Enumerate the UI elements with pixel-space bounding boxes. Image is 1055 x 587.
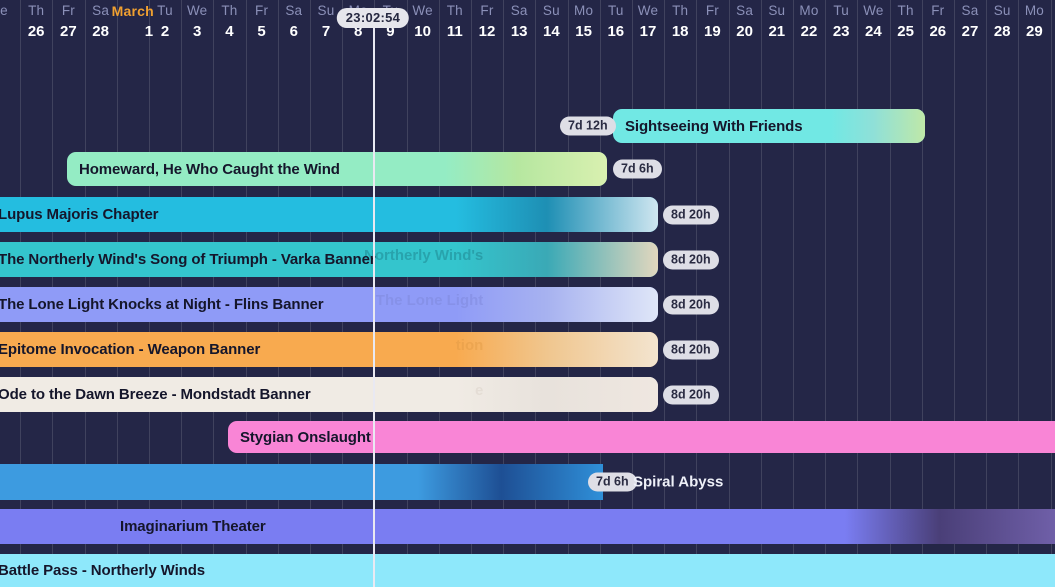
timeline-app: eTh26Fr27Sa28March1Tu2We3Th4Fr5Sa6Su7Mo8… — [0, 0, 1055, 587]
header-day-column[interactable]: Mo22 — [793, 0, 825, 42]
day-number-label: 7 — [310, 22, 342, 42]
event-label: Imaginarium Theater — [120, 518, 266, 535]
timeline-row: Stygian Onslaught — [0, 421, 1055, 453]
header-day-column[interactable]: Su28 — [986, 0, 1018, 42]
header-day-column[interactable]: Fr19 — [696, 0, 728, 42]
time-remaining-pill: 8d 20h — [663, 295, 719, 314]
day-of-week-label: Tu — [1051, 0, 1055, 22]
event-artwork — [456, 287, 658, 322]
event-artwork — [845, 509, 1055, 544]
header-day-column[interactable]: Tu23 — [825, 0, 857, 42]
header-day-column[interactable]: e — [0, 0, 20, 22]
day-number-label: 23 — [825, 22, 857, 42]
header-day-column[interactable]: Tu16 — [600, 0, 632, 42]
event-bar[interactable]: Imaginarium Theater — [0, 509, 1055, 544]
timeline-row: Imaginarium Theater — [0, 509, 1055, 544]
event-artwork-caption: e — [475, 383, 483, 399]
current-time-line — [373, 24, 375, 587]
day-of-week-label: Tu — [825, 0, 857, 22]
event-label: The Lone Light Knocks at Night - Flins B… — [0, 296, 324, 313]
timeline-row: Homeward, He Who Caught the Wind — [0, 152, 1055, 186]
header-day-column[interactable]: Fr12 — [471, 0, 503, 42]
day-number-label: 24 — [857, 22, 889, 42]
day-of-week-label: Mo — [568, 0, 600, 22]
day-of-week-label: Tu — [149, 0, 181, 22]
timeline-row: Battle Pass - Northerly Winds — [0, 554, 1055, 587]
timeline-row: eOde to the Dawn Breeze - Mondstadt Bann… — [0, 377, 1055, 412]
header-day-column[interactable]: Th18 — [664, 0, 696, 42]
header-day-column[interactable]: Su14 — [535, 0, 567, 42]
day-of-week-label: Fr — [471, 0, 503, 22]
day-number-label: 10 — [407, 22, 439, 42]
event-label: Lupus Majoris Chapter — [0, 206, 158, 223]
time-remaining-pill: 7d 12h — [560, 117, 616, 136]
event-label: Epitome Invocation - Weapon Banner — [0, 341, 260, 358]
event-label: Homeward, He Who Caught the Wind — [79, 161, 340, 178]
header-day-column[interactable]: Mo29 — [1018, 0, 1050, 42]
day-of-week-label: Th — [890, 0, 922, 22]
event-bar[interactable]: Northerly Wind'sThe Northerly Wind's Son… — [0, 242, 658, 277]
header-day-column[interactable]: We17 — [632, 0, 664, 42]
day-of-week-label: Fr — [52, 0, 84, 22]
header-day-column[interactable]: Su21 — [761, 0, 793, 42]
event-artwork — [445, 152, 607, 186]
day-of-week-label: Th — [439, 0, 471, 22]
event-bar[interactable]: tionEpitome Invocation - Weapon Banner — [0, 332, 658, 367]
event-label: Stygian Onslaught — [240, 429, 371, 446]
time-remaining-pill: 8d 20h — [663, 385, 719, 404]
day-number-label: 21 — [761, 22, 793, 42]
day-number-label: 30 — [1051, 22, 1055, 42]
day-of-week-label: Th — [213, 0, 245, 22]
day-number-label: 19 — [696, 22, 728, 42]
day-number-label: 14 — [535, 22, 567, 42]
day-of-week-label: We — [181, 0, 213, 22]
event-bar[interactable]: Stygian Onslaught — [228, 421, 1055, 453]
day-of-week-label: Mo — [1018, 0, 1050, 22]
day-number-label: 11 — [439, 22, 471, 42]
event-bar[interactable]: The Lone LightThe Lone Light Knocks at N… — [0, 287, 658, 322]
time-remaining-pill: 7d 6h — [613, 160, 662, 179]
header-day-column[interactable]: Sa20 — [729, 0, 761, 42]
event-artwork — [456, 242, 658, 277]
header-day-column[interactable]: Tu30 — [1051, 0, 1055, 42]
day-number-label: 22 — [793, 22, 825, 42]
day-of-week-label: e — [0, 0, 20, 22]
day-number-label: 12 — [471, 22, 503, 42]
day-of-week-label: We — [857, 0, 889, 22]
time-remaining-pill: 7d 6h — [588, 473, 637, 492]
day-number-label: 16 — [600, 22, 632, 42]
header-day-column[interactable]: We10 — [407, 0, 439, 42]
event-artwork — [456, 377, 658, 412]
day-number-label: 3 — [181, 22, 213, 42]
day-of-week-label: Th — [664, 0, 696, 22]
day-of-week-label: We — [632, 0, 664, 22]
day-number-label: 17 — [632, 22, 664, 42]
header-day-column[interactable]: Fr5 — [246, 0, 278, 42]
day-of-week-label: Su — [535, 0, 567, 22]
header-day-column[interactable]: Th11 — [439, 0, 471, 42]
header-day-column[interactable]: Fr27 — [52, 0, 84, 42]
event-bar[interactable] — [0, 464, 603, 500]
event-label: Ode to the Dawn Breeze - Mondstadt Banne… — [0, 386, 311, 403]
event-artwork — [418, 464, 603, 500]
timeline-row: The Lone LightThe Lone Light Knocks at N… — [0, 287, 1055, 322]
day-of-week-label: We — [407, 0, 439, 22]
timeline-row: Northerly Wind'sThe Northerly Wind's Son… — [0, 242, 1055, 277]
day-of-week-label: Sa — [278, 0, 310, 22]
event-bar[interactable]: Lupus Majoris Chapter — [0, 197, 658, 232]
event-artwork-caption: The Lone Light — [376, 293, 483, 309]
day-number-label: 27 — [52, 22, 84, 42]
timeline-header: eTh26Fr27Sa28March1Tu2We3Th4Fr5Sa6Su7Mo8… — [0, 0, 1055, 56]
event-bar[interactable]: Sightseeing With Friends — [613, 109, 925, 143]
header-day-column[interactable]: Fr26 — [922, 0, 954, 42]
header-day-column[interactable]: We3 — [181, 0, 213, 42]
day-of-week-label: Fr — [922, 0, 954, 22]
timeline-row — [0, 464, 1055, 500]
day-number-label: 29 — [1018, 22, 1050, 42]
day-number-label: 26 — [20, 22, 52, 42]
header-day-column[interactable]: Mo15 — [568, 0, 600, 42]
event-artwork-caption: Northerly Wind's — [364, 248, 483, 264]
event-artwork — [456, 332, 658, 367]
current-time-pill: 23:02:54 — [337, 8, 409, 28]
header-day-column[interactable]: Th25 — [890, 0, 922, 42]
event-artwork — [456, 197, 658, 232]
day-of-week-label: Th — [20, 0, 52, 22]
day-number-label: 26 — [922, 22, 954, 42]
day-of-week-label: Fr — [246, 0, 278, 22]
header-day-column[interactable]: Th4 — [213, 0, 245, 42]
day-of-week-label: Sa — [954, 0, 986, 22]
event-bar[interactable]: Homeward, He Who Caught the Wind — [67, 152, 607, 186]
day-number-label: 5 — [246, 22, 278, 42]
event-label: The Northerly Wind's Song of Triumph - V… — [0, 251, 376, 268]
header-day-column[interactable]: Tu2 — [149, 0, 181, 42]
day-of-week-label: Su — [986, 0, 1018, 22]
day-number-label: 2 — [149, 22, 181, 42]
day-number-label: 13 — [503, 22, 535, 42]
day-of-week-label: Mo — [793, 0, 825, 22]
header-day-column[interactable]: We24 — [857, 0, 889, 42]
event-label: Spiral Abyss — [633, 474, 723, 491]
day-number-label: 27 — [954, 22, 986, 42]
day-number-label: 20 — [729, 22, 761, 42]
timeline-row: Sightseeing With Friends — [0, 109, 1055, 143]
day-number-label: 28 — [986, 22, 1018, 42]
time-remaining-pill: 8d 20h — [663, 205, 719, 224]
day-of-week-label: Sa — [729, 0, 761, 22]
event-artwork-caption: tion — [456, 338, 484, 354]
event-artwork — [831, 109, 925, 143]
day-number-label: 18 — [664, 22, 696, 42]
header-day-column[interactable]: Th26 — [20, 0, 52, 42]
day-of-week-label: Tu — [600, 0, 632, 22]
day-of-week-label: Fr — [696, 0, 728, 22]
day-of-week-label: Sa — [503, 0, 535, 22]
day-number-label: 4 — [213, 22, 245, 42]
event-label: Sightseeing With Friends — [625, 118, 802, 135]
day-number-label: 15 — [568, 22, 600, 42]
time-remaining-pill: 8d 20h — [663, 250, 719, 269]
header-day-column[interactable]: Sa6 — [278, 0, 310, 42]
header-day-column[interactable]: Sa13 — [503, 0, 535, 42]
day-number-label: 25 — [890, 22, 922, 42]
time-remaining-pill: 8d 20h — [663, 340, 719, 359]
event-bar[interactable]: eOde to the Dawn Breeze - Mondstadt Bann… — [0, 377, 658, 412]
timeline-row: Lupus Majoris Chapter — [0, 197, 1055, 232]
timeline-row: tionEpitome Invocation - Weapon Banner — [0, 332, 1055, 367]
day-of-week-label: Su — [761, 0, 793, 22]
event-bar[interactable]: Battle Pass - Northerly Winds — [0, 554, 1055, 587]
event-label: Battle Pass - Northerly Winds — [0, 562, 205, 579]
day-number-label: 6 — [278, 22, 310, 42]
header-day-column[interactable]: Sa27 — [954, 0, 986, 42]
